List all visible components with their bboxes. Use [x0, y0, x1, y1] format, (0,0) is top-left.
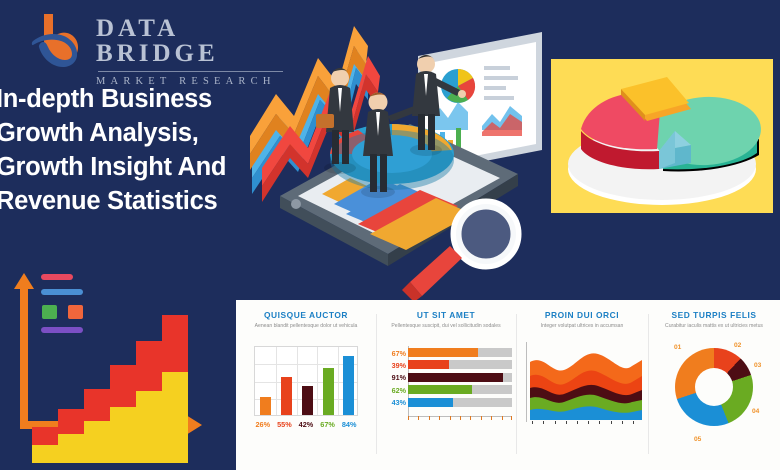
- hbar-label-3: 91%: [384, 373, 406, 382]
- gridline: [338, 347, 339, 415]
- data-bridge-b-mark: [30, 10, 90, 68]
- bottom-infographic-card: QUISQUE AUCTOR Aenean blandit pellentesq…: [236, 300, 780, 470]
- bar-5: [136, 296, 162, 463]
- bar-6: [162, 296, 188, 463]
- bar-4: [110, 296, 136, 463]
- bar-1-base: [32, 445, 58, 463]
- bar-3-growth: [84, 389, 110, 421]
- hbar-fill: [408, 373, 503, 382]
- isometric-pie-panel: [548, 56, 776, 216]
- infographic-panel-sed-turpis-felis: SED TURPIS FELIS Curabitur iaculis matti…: [648, 300, 780, 470]
- panel-title: PROIN DUI ORCI: [516, 310, 648, 320]
- hbar-row-3: 91%: [408, 373, 512, 382]
- vbar-label-1: 26%: [255, 420, 270, 429]
- gridline: [297, 347, 298, 415]
- pie-chart-3d: [551, 59, 773, 213]
- bar-3: [84, 296, 110, 463]
- panel-subtitle: Curabitur iaculis mattis ex ut ultricies…: [648, 323, 780, 330]
- panel-subtitle: Pellentesque suscipit, dui vel sollicitu…: [376, 323, 516, 330]
- hbar-fill: [408, 385, 472, 394]
- hbar-row-5: 43%: [408, 398, 512, 407]
- axis-ticks: [530, 421, 642, 425]
- gridline: [255, 364, 357, 365]
- vbar-3: [302, 386, 313, 415]
- headline-line-2: Growth Analysis,: [0, 116, 296, 150]
- bar-2: [58, 296, 84, 463]
- hbar-label-5: 43%: [384, 398, 406, 407]
- growth-bar-chart: [6, 248, 224, 463]
- vertical-bar-labels: 26% 55% 42% 67% 84%: [252, 420, 360, 429]
- bar-5-growth: [136, 341, 162, 391]
- donut-label-05: 05: [694, 436, 701, 443]
- bar-4-growth: [110, 365, 136, 407]
- bar-2-base: [58, 434, 84, 463]
- bar-6-base: [162, 372, 188, 463]
- donut-chart: [675, 348, 753, 426]
- hbar-label-1: 67%: [384, 349, 406, 358]
- gridline: [317, 347, 318, 415]
- hbar-row-4: 62%: [408, 385, 512, 394]
- bar-1: [32, 296, 58, 463]
- hbar-fill: [408, 398, 453, 407]
- bar-5-base: [136, 391, 162, 463]
- gridline: [276, 347, 277, 415]
- panel-subtitle: Integer volutpat ultrices in accumsan: [516, 323, 648, 330]
- hbar-row-1: 67%: [408, 348, 512, 357]
- donut-hole: [695, 368, 733, 406]
- brand-logo[interactable]: DATA BRIDGE MARKET RESEARCH: [30, 8, 260, 70]
- vbar-5: [343, 356, 354, 415]
- vbar-2: [281, 377, 292, 415]
- bar-6-growth: [162, 315, 188, 372]
- horizontal-bar-chart: 67% 39% 91% 62%: [408, 348, 512, 414]
- bar-4-base: [110, 407, 136, 463]
- vbar-label-4: 67%: [320, 420, 335, 429]
- vbar-label-5: 84%: [342, 420, 357, 429]
- vbar-1: [260, 397, 271, 415]
- headline-line-4: Revenue Statistics: [0, 184, 296, 218]
- hbar-row-2: 39%: [408, 360, 512, 369]
- axis-ticks: [408, 416, 512, 421]
- headline-line-1: In-depth Business: [0, 82, 296, 116]
- hbar-fill: [408, 360, 449, 369]
- bar-2-growth: [58, 409, 84, 434]
- bar-1-growth: [32, 427, 58, 445]
- legend-pill-1: [41, 274, 73, 280]
- vbar-4: [323, 368, 334, 415]
- marketing-banner: DATA BRIDGE MARKET RESEARCH In-depth Bus…: [0, 0, 780, 470]
- donut-label-02: 02: [734, 342, 741, 349]
- headline-line-3: Growth Insight And: [0, 150, 296, 184]
- vbar-label-3: 42%: [299, 420, 314, 429]
- donut-label-04: 04: [752, 408, 759, 415]
- axis-line: [526, 342, 527, 422]
- infographic-panel-quisque-auctor: QUISQUE AUCTOR Aenean blandit pellentesq…: [236, 300, 376, 470]
- donut-label-03: 03: [754, 362, 761, 369]
- page-title: In-depth Business Growth Analysis, Growt…: [0, 82, 296, 218]
- infographic-panel-ut-sit-amet: UT SIT AMET Pellentesque suscipit, dui v…: [376, 300, 516, 470]
- panel-title: QUISQUE AUCTOR: [236, 310, 376, 320]
- vbar-label-2: 55%: [277, 420, 292, 429]
- hbar-label-4: 62%: [384, 386, 406, 395]
- hbar-label-2: 39%: [384, 361, 406, 370]
- stacked-area-chart: [530, 344, 642, 420]
- gridline: [255, 382, 357, 383]
- infographic-panel-proin-dui-orci: PROIN DUI ORCI Integer volutpat ultrices…: [516, 300, 648, 470]
- donut-label-01: 01: [674, 344, 681, 351]
- panel-title: UT SIT AMET: [376, 310, 516, 320]
- bar-3-base: [84, 421, 110, 463]
- panel-subtitle: Aenean blandit pellentesque dolor ut veh…: [236, 323, 376, 330]
- vertical-bar-chart: [254, 346, 358, 416]
- hbar-fill: [408, 348, 478, 357]
- legend-pill-2: [41, 289, 83, 295]
- panel-title: SED TURPIS FELIS: [648, 310, 780, 320]
